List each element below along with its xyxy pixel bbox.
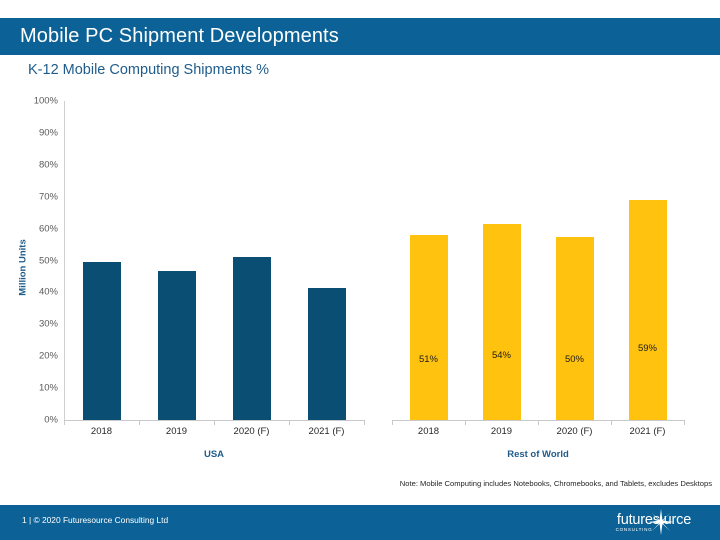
x-axis-tick <box>289 420 290 425</box>
y-axis-tick-label: 90% <box>12 127 58 138</box>
x-axis-line <box>392 420 684 421</box>
bar-chart: 0%10%20%30%40%50%60%70%80%90%100% Millio… <box>0 0 720 540</box>
x-axis-tick <box>64 420 65 425</box>
bar <box>158 271 196 420</box>
x-axis-category-label: 2019 <box>139 426 214 437</box>
footer-copyright: 1 | © 2020 Futuresource Consulting Ltd <box>22 515 168 525</box>
group-label: Rest of World <box>392 449 684 460</box>
y-axis-tick-label: 80% <box>12 159 58 170</box>
bar: 50% <box>556 237 594 420</box>
logo-subtext: CONSULTING <box>604 527 664 532</box>
bar <box>308 288 346 420</box>
bar <box>83 262 121 420</box>
y-axis-title: Million Units <box>18 223 29 313</box>
y-axis-tick-label: 0% <box>12 415 58 426</box>
y-axis-tick-label: 10% <box>12 383 58 394</box>
x-axis-category-label: 2018 <box>392 426 465 437</box>
x-axis-category-label: 2021 (F) <box>611 426 684 437</box>
bar: 51% <box>410 235 448 420</box>
group-label: USA <box>64 449 364 460</box>
bar-value-label: 50% <box>556 354 594 365</box>
bar: 54% <box>483 224 521 420</box>
x-axis-category-label: 2021 (F) <box>289 426 364 437</box>
y-axis-tick-label: 30% <box>12 319 58 330</box>
x-axis-tick <box>538 420 539 425</box>
x-axis-tick <box>139 420 140 425</box>
x-axis-tick <box>684 420 685 425</box>
bar-value-label: 51% <box>410 354 448 365</box>
bar-value-label: 59% <box>629 343 667 354</box>
x-axis-line <box>64 420 364 421</box>
x-axis-tick <box>214 420 215 425</box>
bar-value-label: 54% <box>483 350 521 361</box>
bar: 59% <box>629 200 667 420</box>
bar <box>233 257 271 420</box>
slide: Mobile PC Shipment Developments K-12 Mob… <box>0 0 720 540</box>
x-axis-tick <box>465 420 466 425</box>
x-axis-category-label: 2020 (F) <box>538 426 611 437</box>
y-axis-tick-label: 20% <box>12 351 58 362</box>
futuresource-logo: futures urce CONSULTING <box>602 510 706 536</box>
x-axis-category-label: 2020 (F) <box>214 426 289 437</box>
x-axis-tick <box>392 420 393 425</box>
x-axis-tick <box>611 420 612 425</box>
chart-note: Note: Mobile Computing includes Notebook… <box>400 479 712 488</box>
y-axis-tick-label: 100% <box>12 96 58 107</box>
x-axis-category-label: 2018 <box>64 426 139 437</box>
y-axis-tick-label: 70% <box>12 191 58 202</box>
x-axis-tick <box>364 420 365 425</box>
x-axis-category-label: 2019 <box>465 426 538 437</box>
y-axis-line <box>64 101 65 420</box>
